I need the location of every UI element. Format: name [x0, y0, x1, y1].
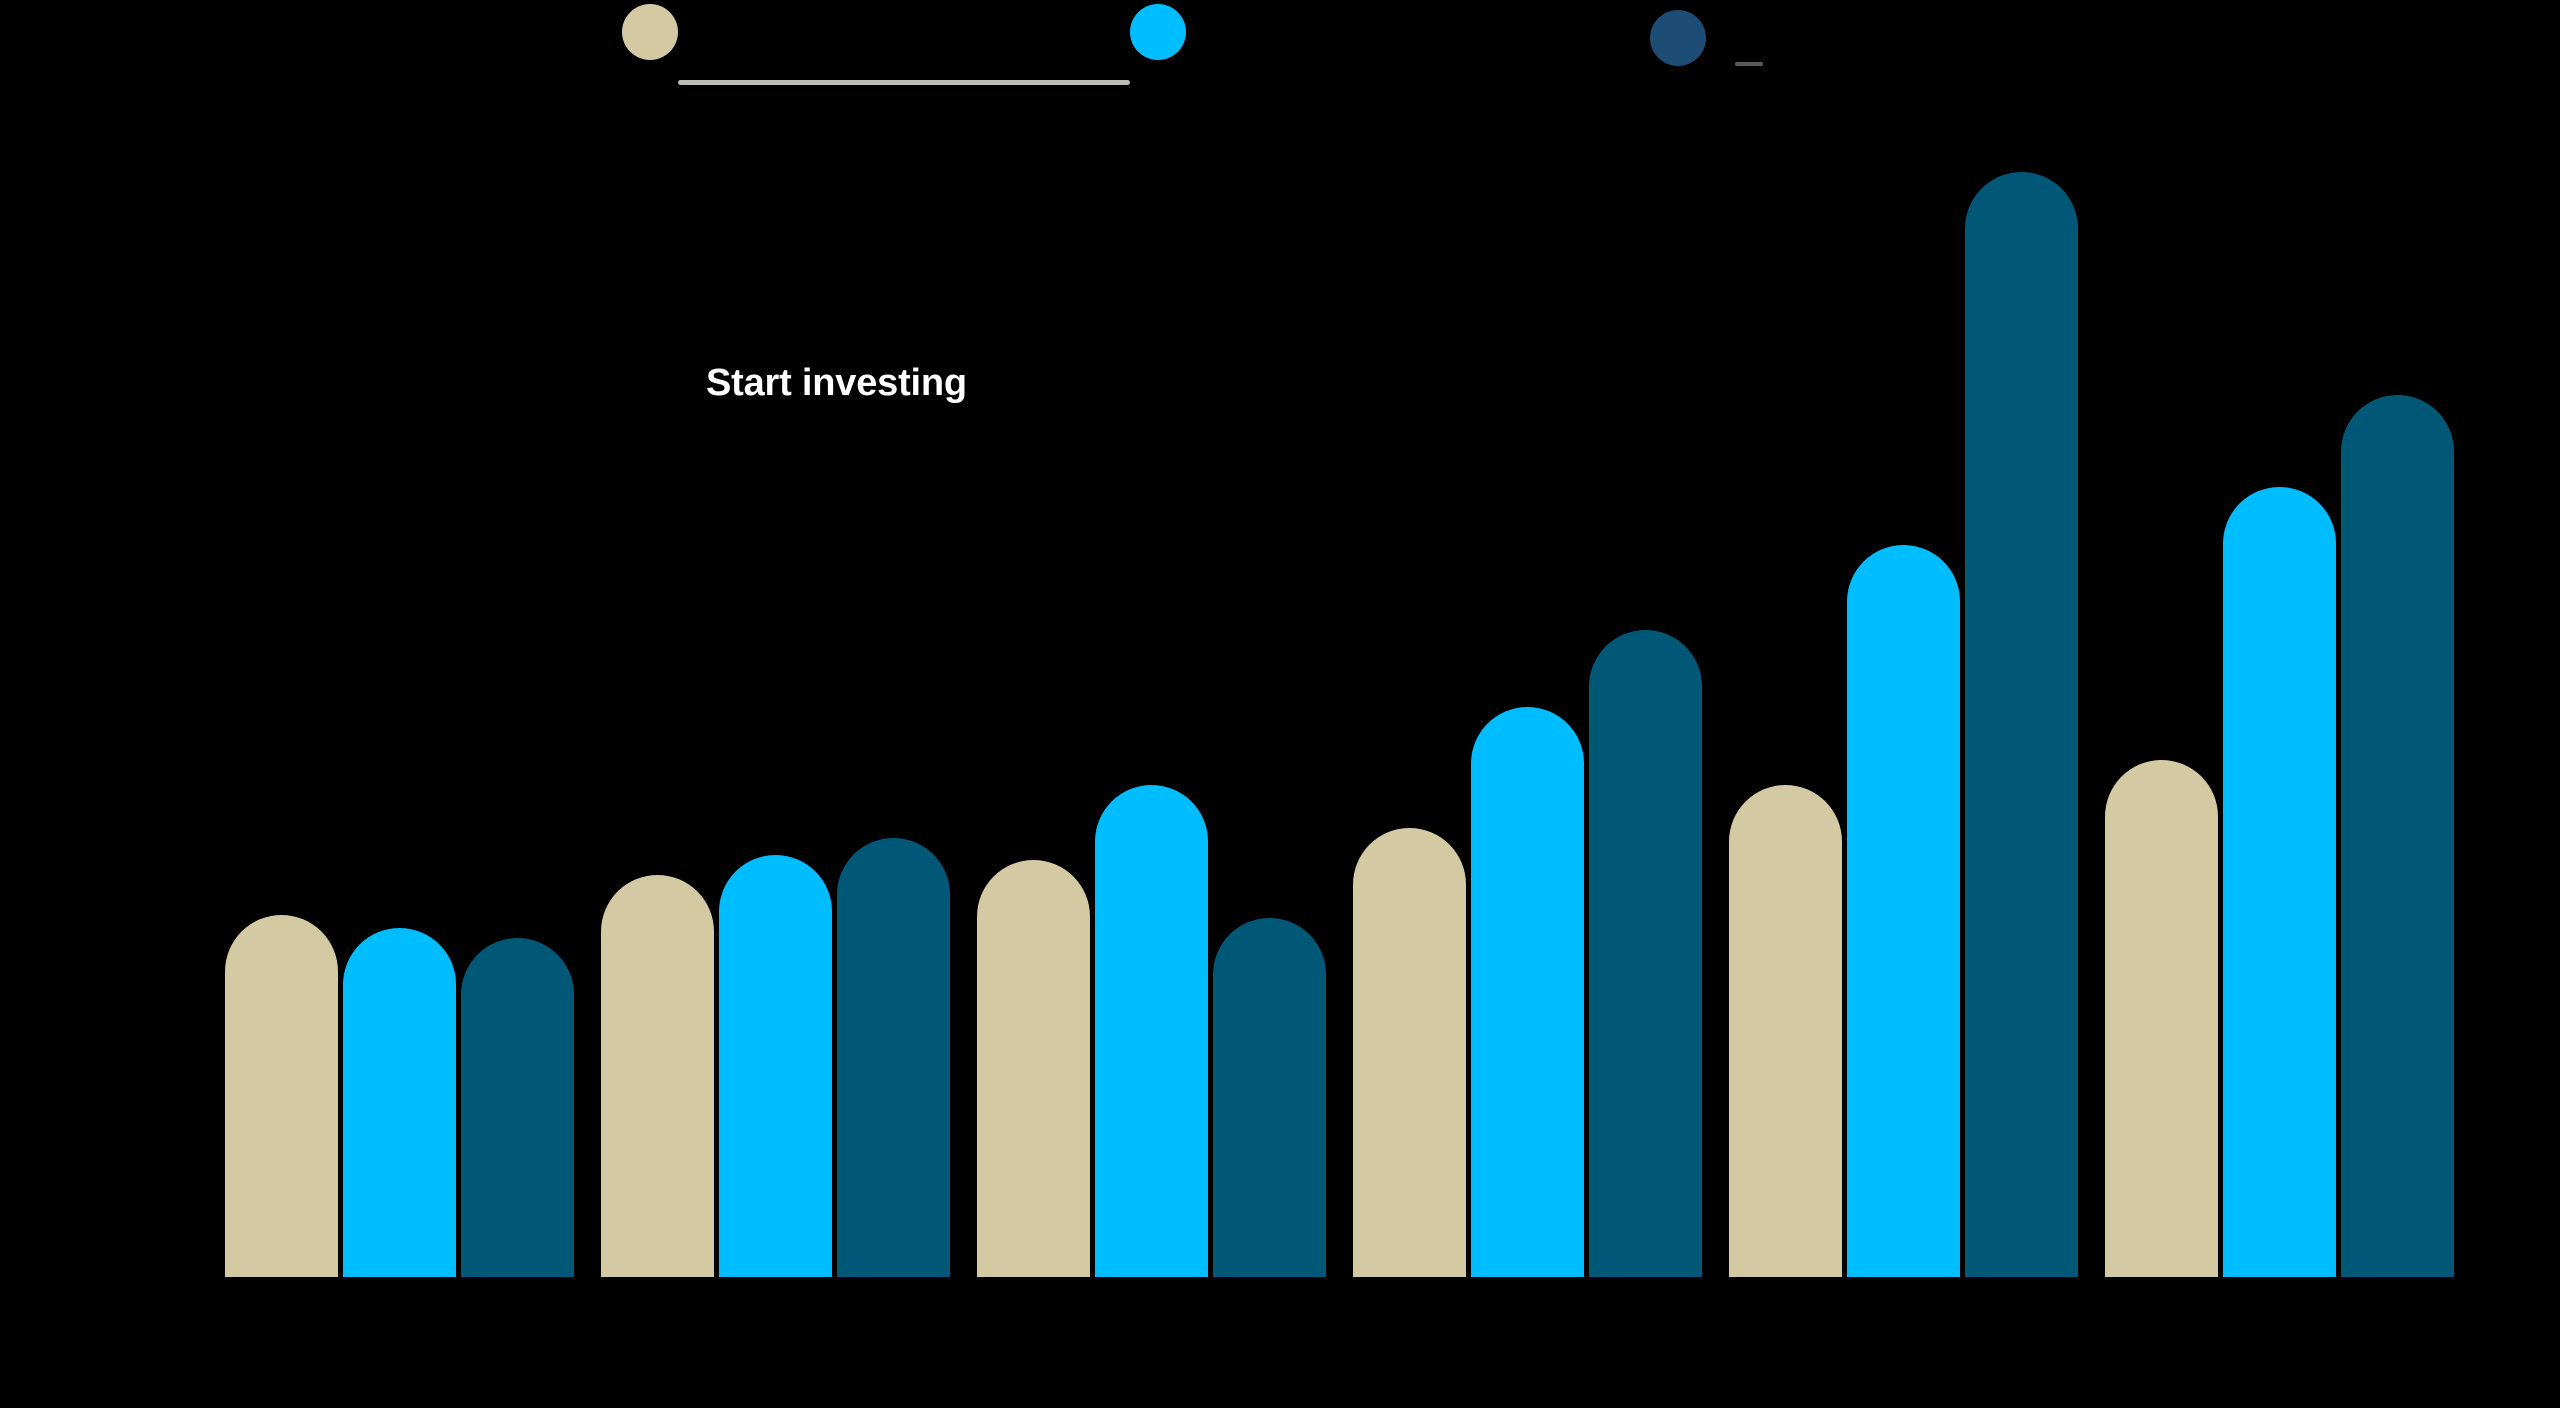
bar-g1-series-c[interactable]: [461, 938, 574, 1277]
bar-g5-series-b[interactable]: [1847, 545, 1960, 1277]
chart-canvas: Start investing: [0, 0, 2560, 1408]
legend-connector-line: [678, 80, 1130, 85]
bar-g6-series-b[interactable]: [2223, 487, 2336, 1277]
bar-g4-series-b[interactable]: [1471, 707, 1584, 1277]
bar-g2-series-c[interactable]: [837, 838, 950, 1277]
bar-g6-series-c[interactable]: [2341, 395, 2454, 1277]
bar-g5-series-a[interactable]: [1729, 785, 1842, 1277]
page-title: Start investing: [706, 362, 967, 405]
bar-g1-series-b[interactable]: [343, 928, 456, 1277]
bar-g6-series-a[interactable]: [2105, 760, 2218, 1277]
bar-g4-series-c[interactable]: [1589, 630, 1702, 1277]
bar-g3-series-b[interactable]: [1095, 785, 1208, 1277]
legend-dot-navy: [1650, 10, 1706, 66]
bar-g5-series-c[interactable]: [1965, 172, 2078, 1277]
bar-g3-series-a[interactable]: [977, 860, 1090, 1277]
bar-g1-series-a[interactable]: [225, 915, 338, 1277]
bar-g2-series-a[interactable]: [601, 875, 714, 1277]
bar-g4-series-a[interactable]: [1353, 828, 1466, 1277]
legend-tick-dash: [1735, 62, 1763, 66]
legend-dot-beige: [622, 4, 678, 60]
bar-g3-series-c[interactable]: [1213, 918, 1326, 1277]
legend-dot-cyan: [1130, 4, 1186, 60]
bar-g2-series-b[interactable]: [719, 855, 832, 1277]
bar-plot-area: [0, 0, 2560, 1408]
